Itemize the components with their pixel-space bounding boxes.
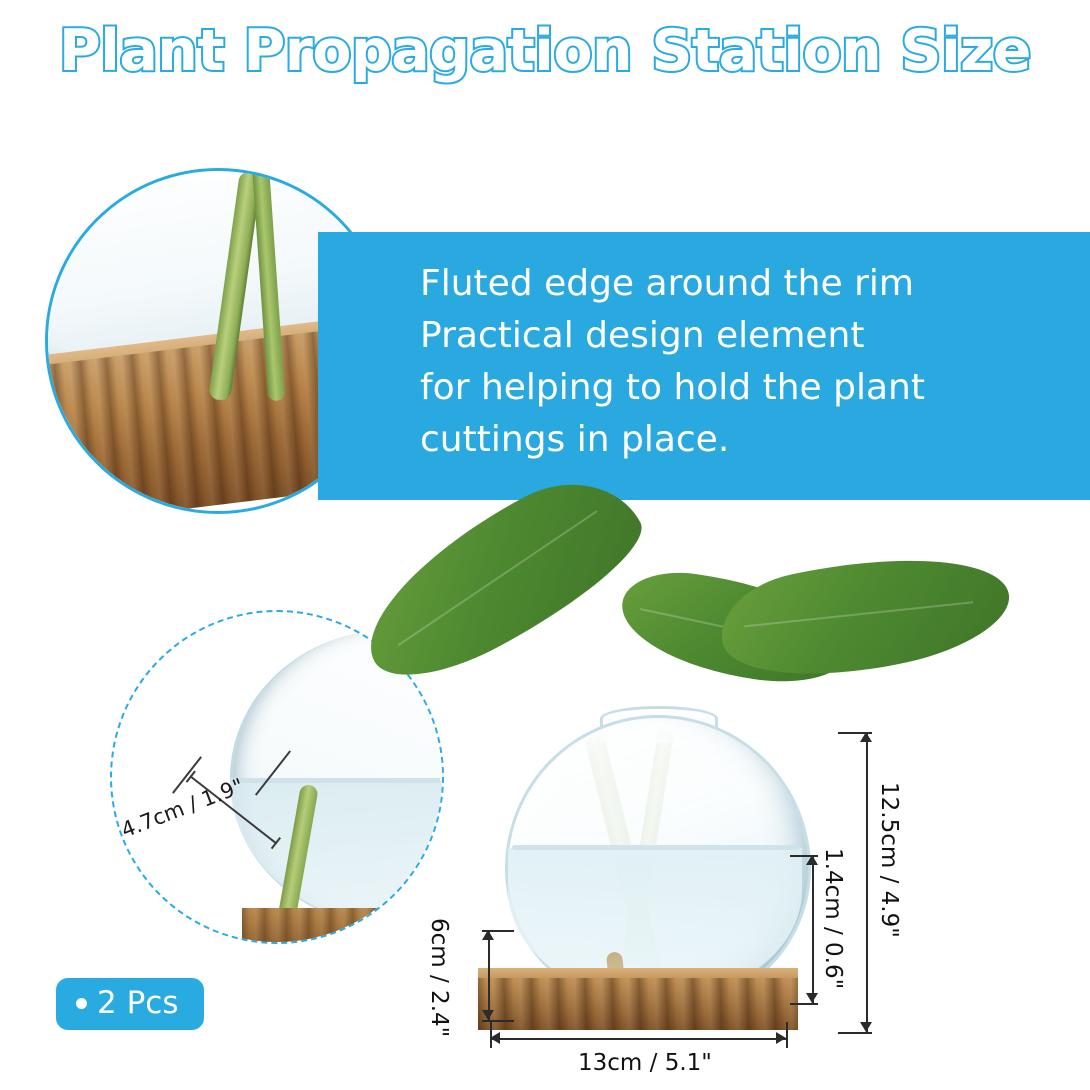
water-cross-section — [230, 780, 444, 926]
vase-waterline — [512, 845, 800, 850]
waterline-cross-section — [230, 778, 440, 783]
dim-tick-left-base-width — [490, 1022, 492, 1048]
dim-line-total-height — [866, 732, 868, 1032]
dim-tick-top-rim-waterline — [790, 855, 818, 857]
leaf-vein — [744, 601, 973, 627]
dim-tick-bottom-rim-waterline — [790, 1003, 818, 1005]
quantity-badge-label: 2 Pcs — [97, 985, 178, 1021]
dim-arrow-down-rim-waterline — [806, 993, 818, 1003]
dim-tick-bottom-base-depth — [482, 1020, 514, 1022]
dim-tick-bottom-total-height — [838, 1032, 872, 1034]
dim-tick-top-base-depth — [482, 930, 514, 932]
product-photo — [430, 500, 1050, 1060]
dim-arrow-down-base-depth — [482, 1010, 494, 1020]
dim-line-rim-to-waterline — [812, 855, 814, 1003]
dim-tick-right-base-width — [786, 1022, 788, 1048]
dim-label-base-depth: 6cm / 2.4" — [426, 918, 452, 1037]
dim-line-base-width — [490, 1038, 786, 1040]
feature-banner-text: Fluted edge around the rim Practical des… — [420, 258, 1080, 466]
page-title: Plant Propagation Station Size — [0, 18, 1090, 84]
dim-label-rim-to-waterline: 1.4cm / 0.6" — [820, 848, 846, 989]
wood-base-cross-section — [242, 908, 444, 944]
dim-arrow-down-total-height — [860, 1022, 872, 1032]
wood-base — [478, 978, 798, 1030]
dim-arrow-right-base-width — [776, 1032, 786, 1044]
dim-label-base-width: 13cm / 5.1" — [578, 1050, 712, 1076]
dim-label-total-height: 12.5cm / 4.9" — [876, 782, 902, 938]
leaf-vein — [398, 510, 598, 646]
bullet-dot-icon — [76, 998, 87, 1009]
dim-tick-top-total-height — [838, 732, 872, 734]
quantity-badge: 2 Pcs — [56, 978, 204, 1030]
dim-line-base-depth — [488, 930, 490, 1020]
